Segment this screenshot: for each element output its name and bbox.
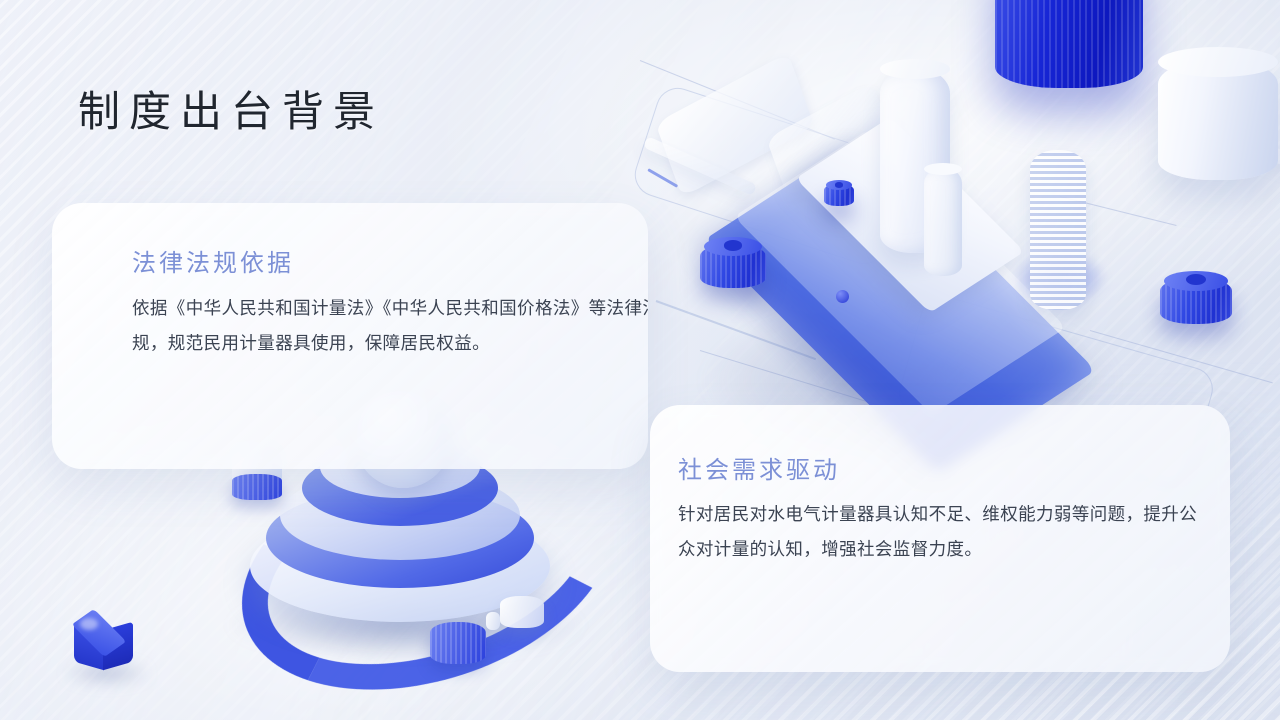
- blue-cap: [232, 474, 282, 500]
- card-social-demand-body: 针对居民对水电气计量器具认知不足、维权能力弱等问题，提升公众对计量的认知，增强社…: [678, 497, 1210, 567]
- card-legal-basis-heading: 法律法规依据: [132, 243, 648, 278]
- frosted-cap: [500, 596, 544, 628]
- frosted-cap-tiny: [486, 612, 500, 630]
- card-social-demand[interactable]: 社会需求驱动 针对居民对水电气计量器具认知不足、维权能力弱等问题，提升公众对计量…: [650, 405, 1230, 672]
- blue-cap: [430, 622, 486, 664]
- blue-ridged-knob: [700, 244, 766, 288]
- blue-sphere-dot: [836, 290, 849, 303]
- card-social-demand-heading: 社会需求驱动: [678, 450, 1230, 485]
- card-legal-basis[interactable]: 法律法规依据 依据《中华人民共和国计量法》《中华人民共和国价格法》等法律法规，规…: [52, 203, 648, 469]
- slide-canvas: 制度出台背景 法律法规依据 依据《中华人民共和国计量法》《中华人民共和国价格法》…: [0, 0, 1280, 720]
- blue-ridged-knob: [1160, 278, 1232, 324]
- page-title: 制度出台背景: [78, 88, 384, 138]
- vivid-blue-cylinder: [995, 0, 1143, 88]
- glossy-blue-cube: [72, 612, 134, 674]
- card-legal-basis-body: 依据《中华人民共和国计量法》《中华人民共和国价格法》等法律法规，规范民用计量器具…: [132, 291, 648, 361]
- blue-ridged-knob-small: [824, 184, 854, 206]
- frosted-cylinder-short: [924, 168, 962, 276]
- coil-spring-cylinder: [1030, 150, 1086, 310]
- pale-lavender-cylinder: [1158, 60, 1278, 180]
- cube-highlight: [80, 618, 98, 630]
